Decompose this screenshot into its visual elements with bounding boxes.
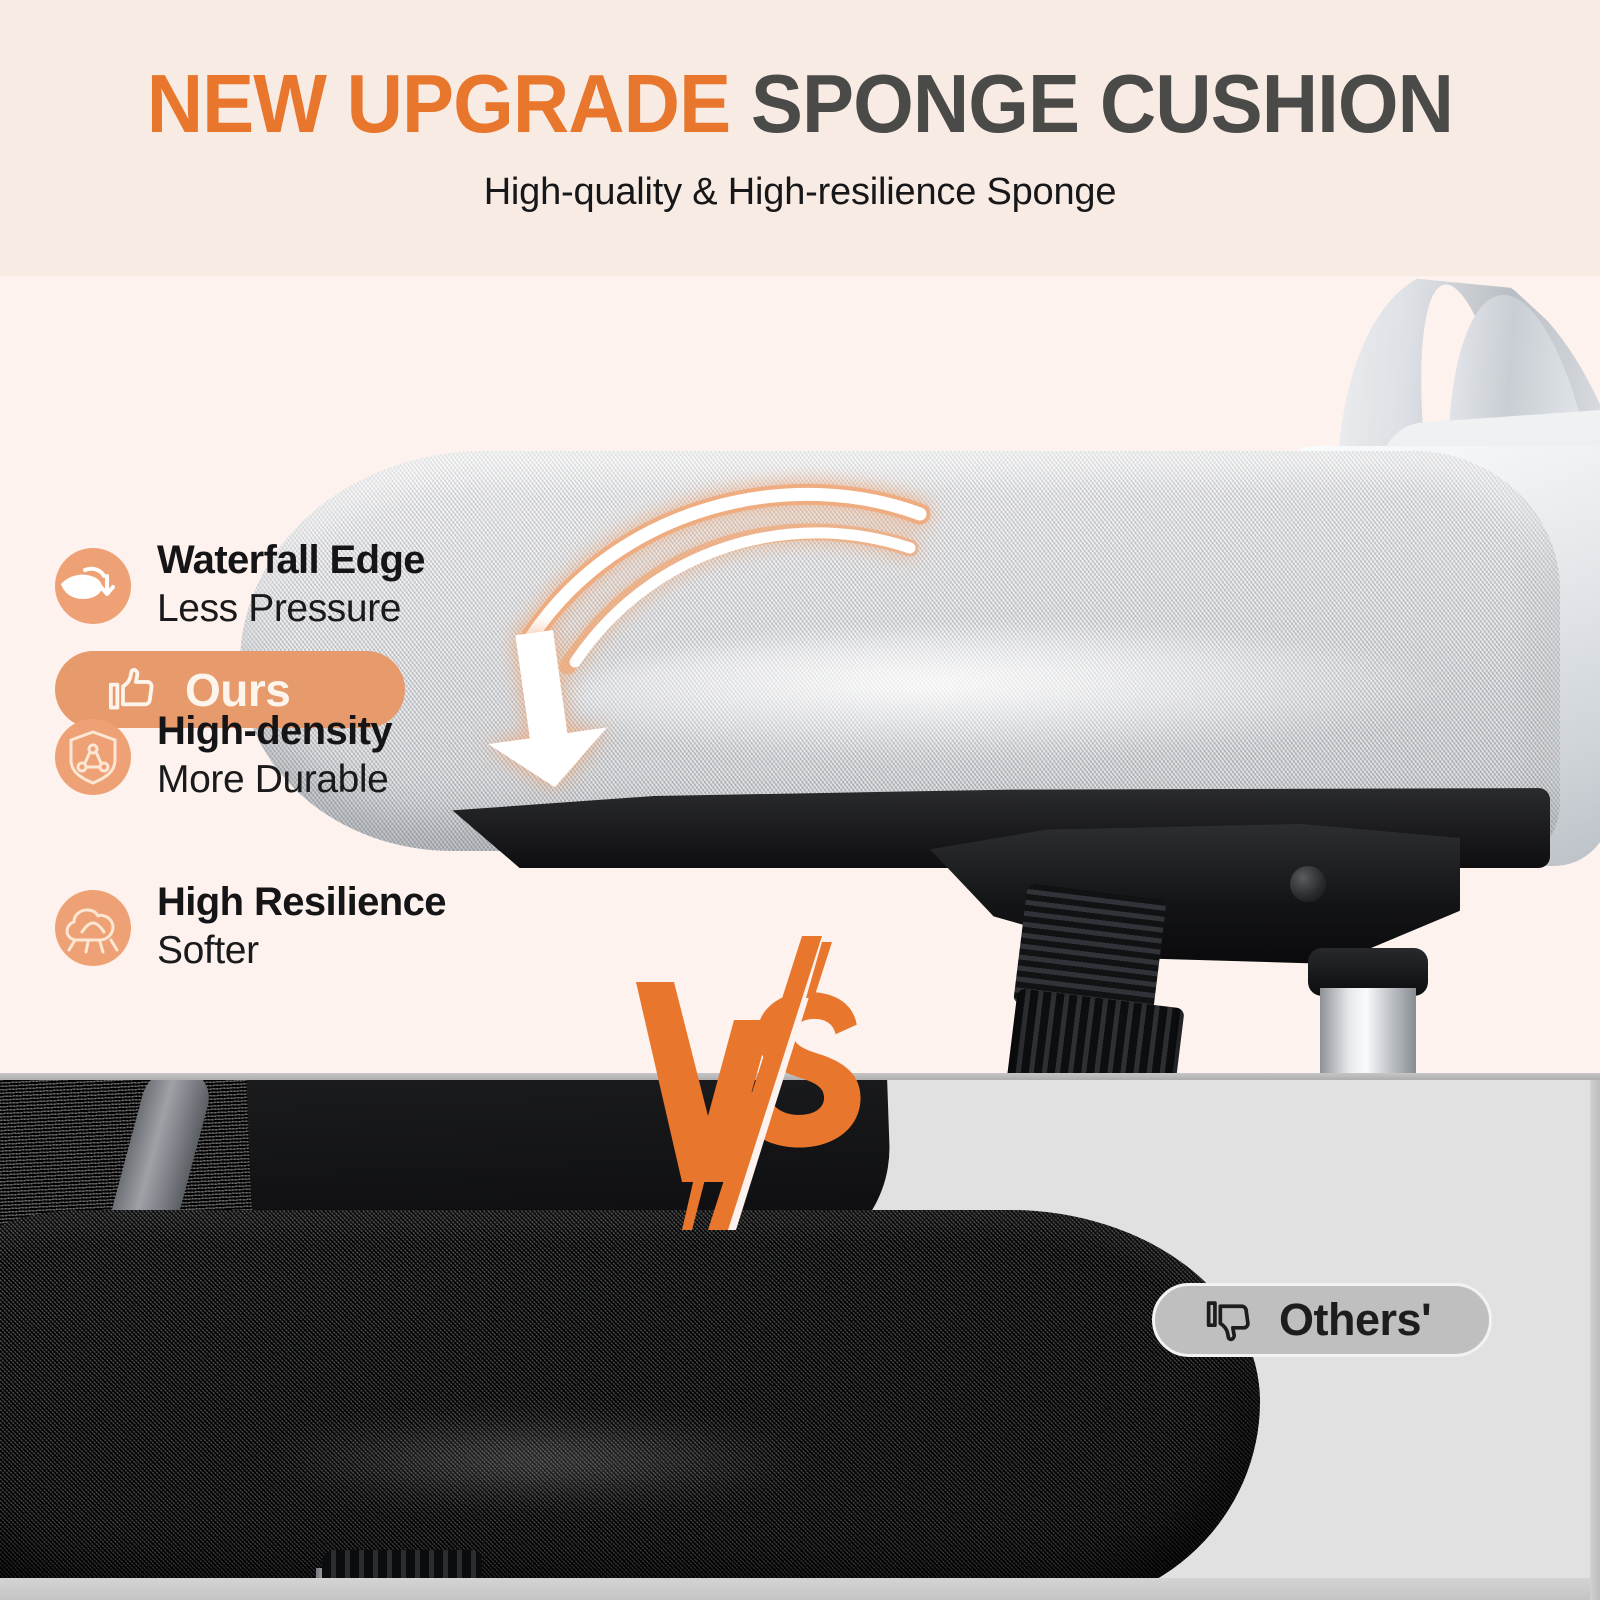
seat-specular-highlight bbox=[260, 1420, 820, 1500]
feature-subtitle: More Durable bbox=[157, 756, 392, 804]
product-comparison-poster: NEW UPGRADE SPONGE CUSHION High-quality … bbox=[0, 0, 1600, 1600]
thumbs-down-icon bbox=[1203, 1294, 1255, 1346]
others-floor-strip bbox=[0, 1578, 1600, 1600]
feature-list: Waterfall Edge Less Pressure High-densit… bbox=[55, 534, 525, 1047]
others-badge-label: Others' bbox=[1279, 1294, 1431, 1346]
resilience-cloud-icon bbox=[55, 890, 131, 966]
flat-black-seat-cushion bbox=[0, 1210, 1260, 1600]
feature-subtitle: Softer bbox=[157, 927, 446, 975]
density-shield-icon bbox=[55, 719, 131, 795]
gas-cylinder bbox=[1320, 988, 1416, 1076]
title-main: SPONGE CUSHION bbox=[751, 57, 1453, 150]
tension-knob bbox=[1003, 988, 1184, 1076]
feature-title: Waterfall Edge bbox=[157, 536, 425, 585]
page-subtitle: High-quality & High-resilience Sponge bbox=[484, 171, 1117, 214]
header-band: NEW UPGRADE SPONGE CUSHION High-quality … bbox=[0, 0, 1600, 276]
waterfall-edge-icon bbox=[55, 548, 131, 624]
feature-title: High-density bbox=[157, 707, 392, 756]
feature-subtitle: Less Pressure bbox=[157, 585, 425, 633]
others-right-edge bbox=[1590, 1080, 1600, 1600]
feature-item: Waterfall Edge Less Pressure bbox=[55, 534, 525, 633]
mechanism-bolt bbox=[1290, 866, 1326, 902]
feature-text: Waterfall Edge Less Pressure bbox=[157, 534, 425, 633]
tilt-mechanism-plate bbox=[930, 824, 1460, 964]
feature-text: High-density More Durable bbox=[157, 705, 392, 804]
feature-title: High Resilience bbox=[157, 878, 446, 927]
feature-item: High Resilience Softer bbox=[55, 876, 525, 975]
title-accent: NEW UPGRADE bbox=[147, 57, 731, 150]
page-title: NEW UPGRADE SPONGE CUSHION bbox=[147, 62, 1453, 145]
versus-graphic bbox=[616, 930, 916, 1230]
feature-text: High Resilience Softer bbox=[157, 876, 446, 975]
feature-item: High-density More Durable bbox=[55, 705, 525, 804]
others-badge[interactable]: Others' bbox=[1152, 1283, 1492, 1357]
